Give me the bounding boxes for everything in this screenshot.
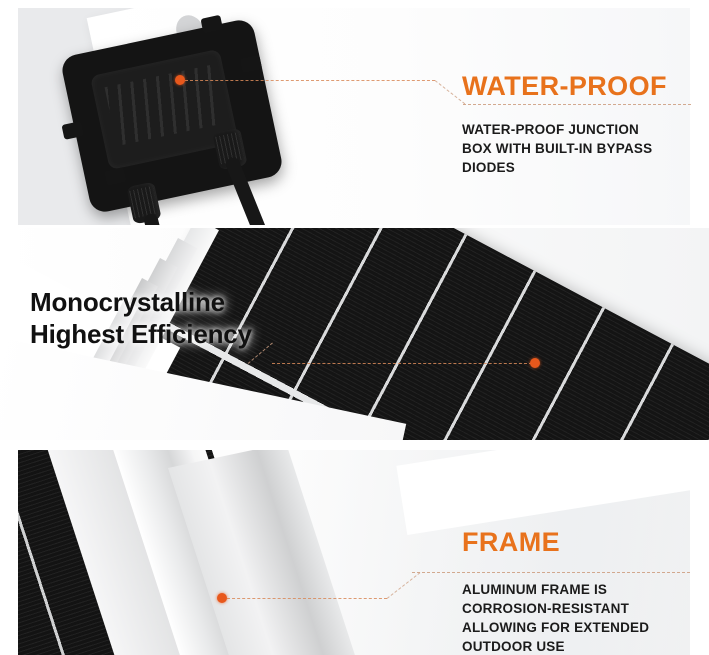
callout-monocrystalline: Monocrystalline Highest Efficiency <box>30 287 252 350</box>
junction-box-photo <box>18 8 690 225</box>
marker-frame[interactable] <box>217 593 227 603</box>
callout-heading-frame: FRAME <box>462 528 698 556</box>
callout-body-frame: ALUMINUM FRAME IS CORROSION-RESISTANT AL… <box>462 580 702 655</box>
callout-body-line: WATER-PROOF JUNCTION <box>462 120 700 139</box>
callout-heading-water-proof: WATER-PROOF <box>462 72 698 100</box>
divider-frame <box>412 572 690 573</box>
callout-water-proof: WATER-PROOF <box>462 72 698 100</box>
callout-body-line: OUTDOOR USE <box>462 637 702 655</box>
clip-tab <box>240 55 263 74</box>
clip-tab <box>104 167 127 186</box>
callout-body-line: ALUMINUM FRAME IS <box>462 580 702 599</box>
leader-line-junction-horizontal <box>185 80 435 81</box>
callout-body-line: ALLOWING FOR EXTENDED <box>462 618 702 637</box>
clip-tab <box>200 15 223 34</box>
marker-junction-box[interactable] <box>175 75 185 85</box>
callout-body-water-proof: WATER-PROOF JUNCTION BOX WITH BUILT-IN B… <box>462 120 700 177</box>
leader-line-cells-horizontal <box>272 363 532 364</box>
divider-water-proof <box>463 104 691 105</box>
infographic-page: WATER-PROOF WATER-PROOF JUNCTION BOX WIT… <box>0 0 709 655</box>
callout-frame: FRAME <box>462 528 698 556</box>
callout-heading-line: Monocrystalline <box>30 287 252 319</box>
clip-tab <box>61 121 84 140</box>
embossed-marking <box>105 65 223 146</box>
callout-body-line: BOX WITH BUILT-IN BYPASS <box>462 139 700 158</box>
callout-heading-line: Highest Efficiency <box>30 319 252 351</box>
leader-line-frame-horizontal <box>227 598 387 599</box>
callout-body-line: DIODES <box>462 158 700 177</box>
callout-body-line: CORROSION-RESISTANT <box>462 599 702 618</box>
marker-cells[interactable] <box>530 358 540 368</box>
